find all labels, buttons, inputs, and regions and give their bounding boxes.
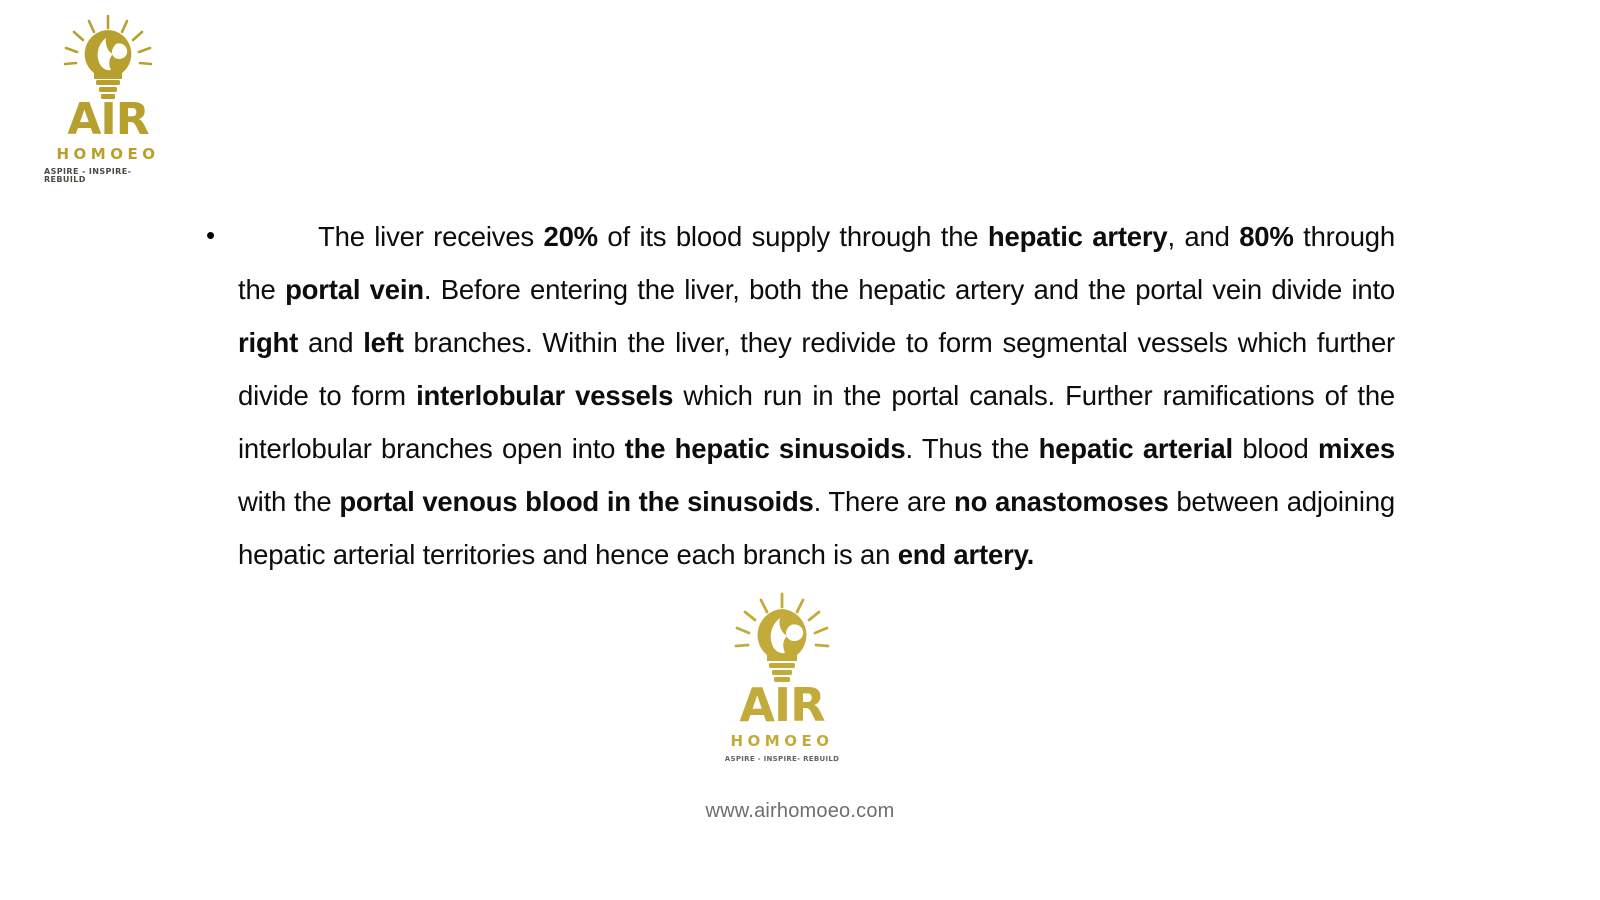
lightbulb-icon <box>44 14 172 100</box>
lightbulb-icon <box>713 592 851 684</box>
text-run-bold: 80% <box>1239 221 1293 252</box>
text-run-bold: hepatic arterial <box>1039 433 1233 464</box>
text-run: of its blood supply through the <box>598 221 988 252</box>
text-run: with the <box>238 486 339 517</box>
brand-logo-center: AIR HOMOEO ASPIRE - INSPIRE- REBUILD <box>713 592 851 763</box>
text-run-bold: no anastomoses <box>954 486 1169 517</box>
logo-subtitle: HOMOEO <box>731 734 834 749</box>
text-run-bold: portal vein <box>285 274 424 305</box>
text-run: . Thus the <box>906 433 1039 464</box>
text-run: . Before entering the liver, both the he… <box>424 274 1395 305</box>
text-run-bold: 20% <box>543 221 597 252</box>
paragraph-text: The liver receives 20% of its blood supp… <box>200 210 1395 581</box>
text-run-bold: mixes <box>1318 433 1395 464</box>
website-url: www.airhomoeo.com <box>0 800 1600 823</box>
text-run: and <box>298 327 363 358</box>
text-run: The liver receives <box>318 221 543 252</box>
text-run-bold: interlobular vessels <box>416 380 673 411</box>
text-run-bold: left <box>363 327 403 358</box>
logo-wordmark: AIR <box>67 98 148 142</box>
text-run-bold: right <box>238 327 298 358</box>
text-run: blood <box>1233 433 1318 464</box>
bullet-item: • The liver receives 20% of its blood su… <box>200 210 1395 581</box>
text-run-bold: hepatic artery <box>988 221 1168 252</box>
text-run-bold: the hepatic sinusoids <box>625 433 906 464</box>
brand-logo-top: AIR HOMOEO ASPIRE - INSPIRE- REBUILD <box>44 14 172 184</box>
logo-wordmark: AIR <box>739 682 824 728</box>
logo-subtitle: HOMOEO <box>57 147 160 162</box>
logo-tagline: ASPIRE - INSPIRE- REBUILD <box>725 756 839 763</box>
slide-body: • The liver receives 20% of its blood su… <box>200 210 1395 581</box>
text-run-bold: end artery. <box>898 539 1034 570</box>
text-run-bold: portal venous blood in the sinusoids <box>339 486 813 517</box>
logo-tagline: ASPIRE - INSPIRE- REBUILD <box>44 168 172 184</box>
bullet-marker-icon: • <box>206 222 215 248</box>
text-run: . There are <box>814 486 954 517</box>
text-run: , and <box>1167 221 1239 252</box>
